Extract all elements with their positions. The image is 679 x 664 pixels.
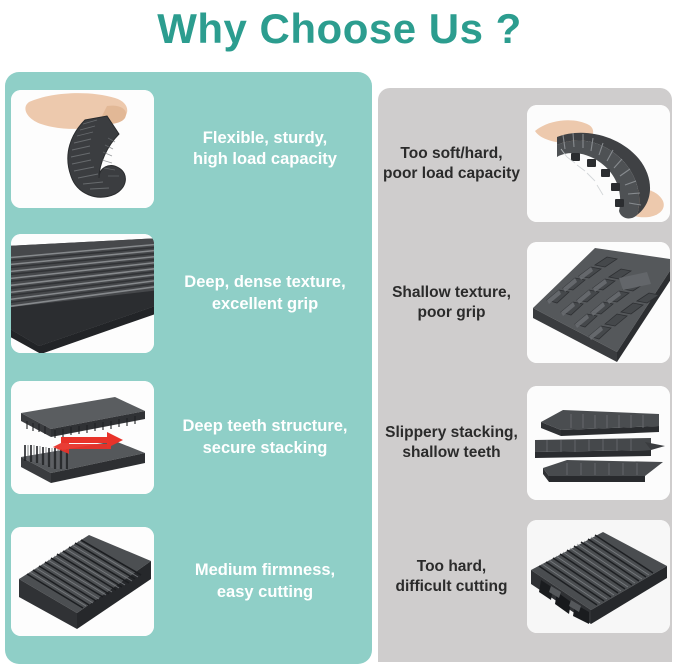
thick-ribbed-pad-angled-icon	[11, 527, 154, 636]
advantage-caption-3: Deep teeth structure, secure stacking	[154, 416, 372, 458]
disadvantage-caption-2-line2: poor grip	[382, 303, 521, 323]
disadvantage-caption-3-line2: shallow teeth	[382, 443, 521, 463]
advantage-row-1: Flexible, sturdy, high load capacity	[5, 90, 372, 208]
hand-bending-flexible-pad-icon	[11, 90, 154, 208]
advantage-image-3	[11, 381, 154, 494]
disadvantage-caption-3-line1: Slippery stacking,	[382, 423, 521, 443]
disadvantage-row-1: Too soft/hard, poor load capacity	[378, 105, 672, 222]
advantage-image-1	[11, 90, 154, 208]
two-pads-stacking-with-red-arrow-icon	[11, 381, 154, 494]
disadvantage-caption-4: Too hard, difficult cutting	[378, 557, 527, 597]
disadvantage-caption-2: Shallow texture, poor grip	[378, 283, 527, 323]
deep-ribbed-pad-closeup-icon	[11, 234, 154, 353]
disadvantage-row-4: Too hard, difficult cutting	[378, 520, 672, 633]
three-thin-pads-sliding-icon	[527, 386, 670, 500]
advantage-caption-4: Medium firmness, easy cutting	[154, 560, 372, 602]
page-title: Why Choose Us ?	[0, 0, 679, 64]
advantage-caption-4-line1: Medium firmness,	[162, 560, 368, 581]
hand-holding-floppy-textured-pad-icon	[527, 105, 670, 222]
advantage-caption-1: Flexible, sturdy, high load capacity	[154, 128, 372, 170]
disadvantage-caption-3: Slippery stacking, shallow teeth	[378, 423, 527, 463]
advantage-caption-2-line2: excellent grip	[162, 294, 368, 315]
disadvantages-panel: Too soft/hard, poor load capacity	[378, 88, 672, 662]
advantage-caption-3-line1: Deep teeth structure,	[162, 416, 368, 437]
disadvantage-caption-1-line1: Too soft/hard,	[382, 144, 521, 164]
disadvantage-image-4	[527, 520, 670, 633]
disadvantage-row-2: Shallow texture, poor grip	[378, 242, 672, 363]
advantage-row-2: Deep, dense texture, excellent grip	[5, 234, 372, 353]
hard-pad-rough-cut-edge-icon	[527, 520, 670, 633]
disadvantage-image-3	[527, 386, 670, 500]
advantage-caption-2-line1: Deep, dense texture,	[162, 272, 368, 293]
advantage-caption-1-line1: Flexible, sturdy,	[162, 128, 368, 149]
advantage-image-2	[11, 234, 154, 353]
disadvantage-image-2	[527, 242, 670, 363]
advantage-caption-3-line2: secure stacking	[162, 438, 368, 459]
advantage-caption-1-line2: high load capacity	[162, 149, 368, 170]
advantage-caption-4-line2: easy cutting	[162, 582, 368, 603]
disadvantage-caption-2-line1: Shallow texture,	[382, 283, 521, 303]
advantage-image-4	[11, 527, 154, 636]
disadvantage-caption-4-line2: difficult cutting	[382, 577, 521, 597]
advantage-row-3: Deep teeth structure, secure stacking	[5, 381, 372, 494]
disadvantage-image-1	[527, 105, 670, 222]
shallow-block-texture-pad-icon	[527, 242, 670, 363]
disadvantage-caption-1-line2: poor load capacity	[382, 164, 521, 184]
advantage-caption-2: Deep, dense texture, excellent grip	[154, 272, 372, 314]
disadvantage-caption-1: Too soft/hard, poor load capacity	[378, 144, 527, 184]
disadvantage-caption-4-line1: Too hard,	[382, 557, 521, 577]
advantages-panel: Flexible, sturdy, high load capacity	[5, 72, 372, 664]
advantage-row-4: Medium firmness, easy cutting	[5, 527, 372, 636]
disadvantage-row-3: Slippery stacking, shallow teeth	[378, 386, 672, 500]
